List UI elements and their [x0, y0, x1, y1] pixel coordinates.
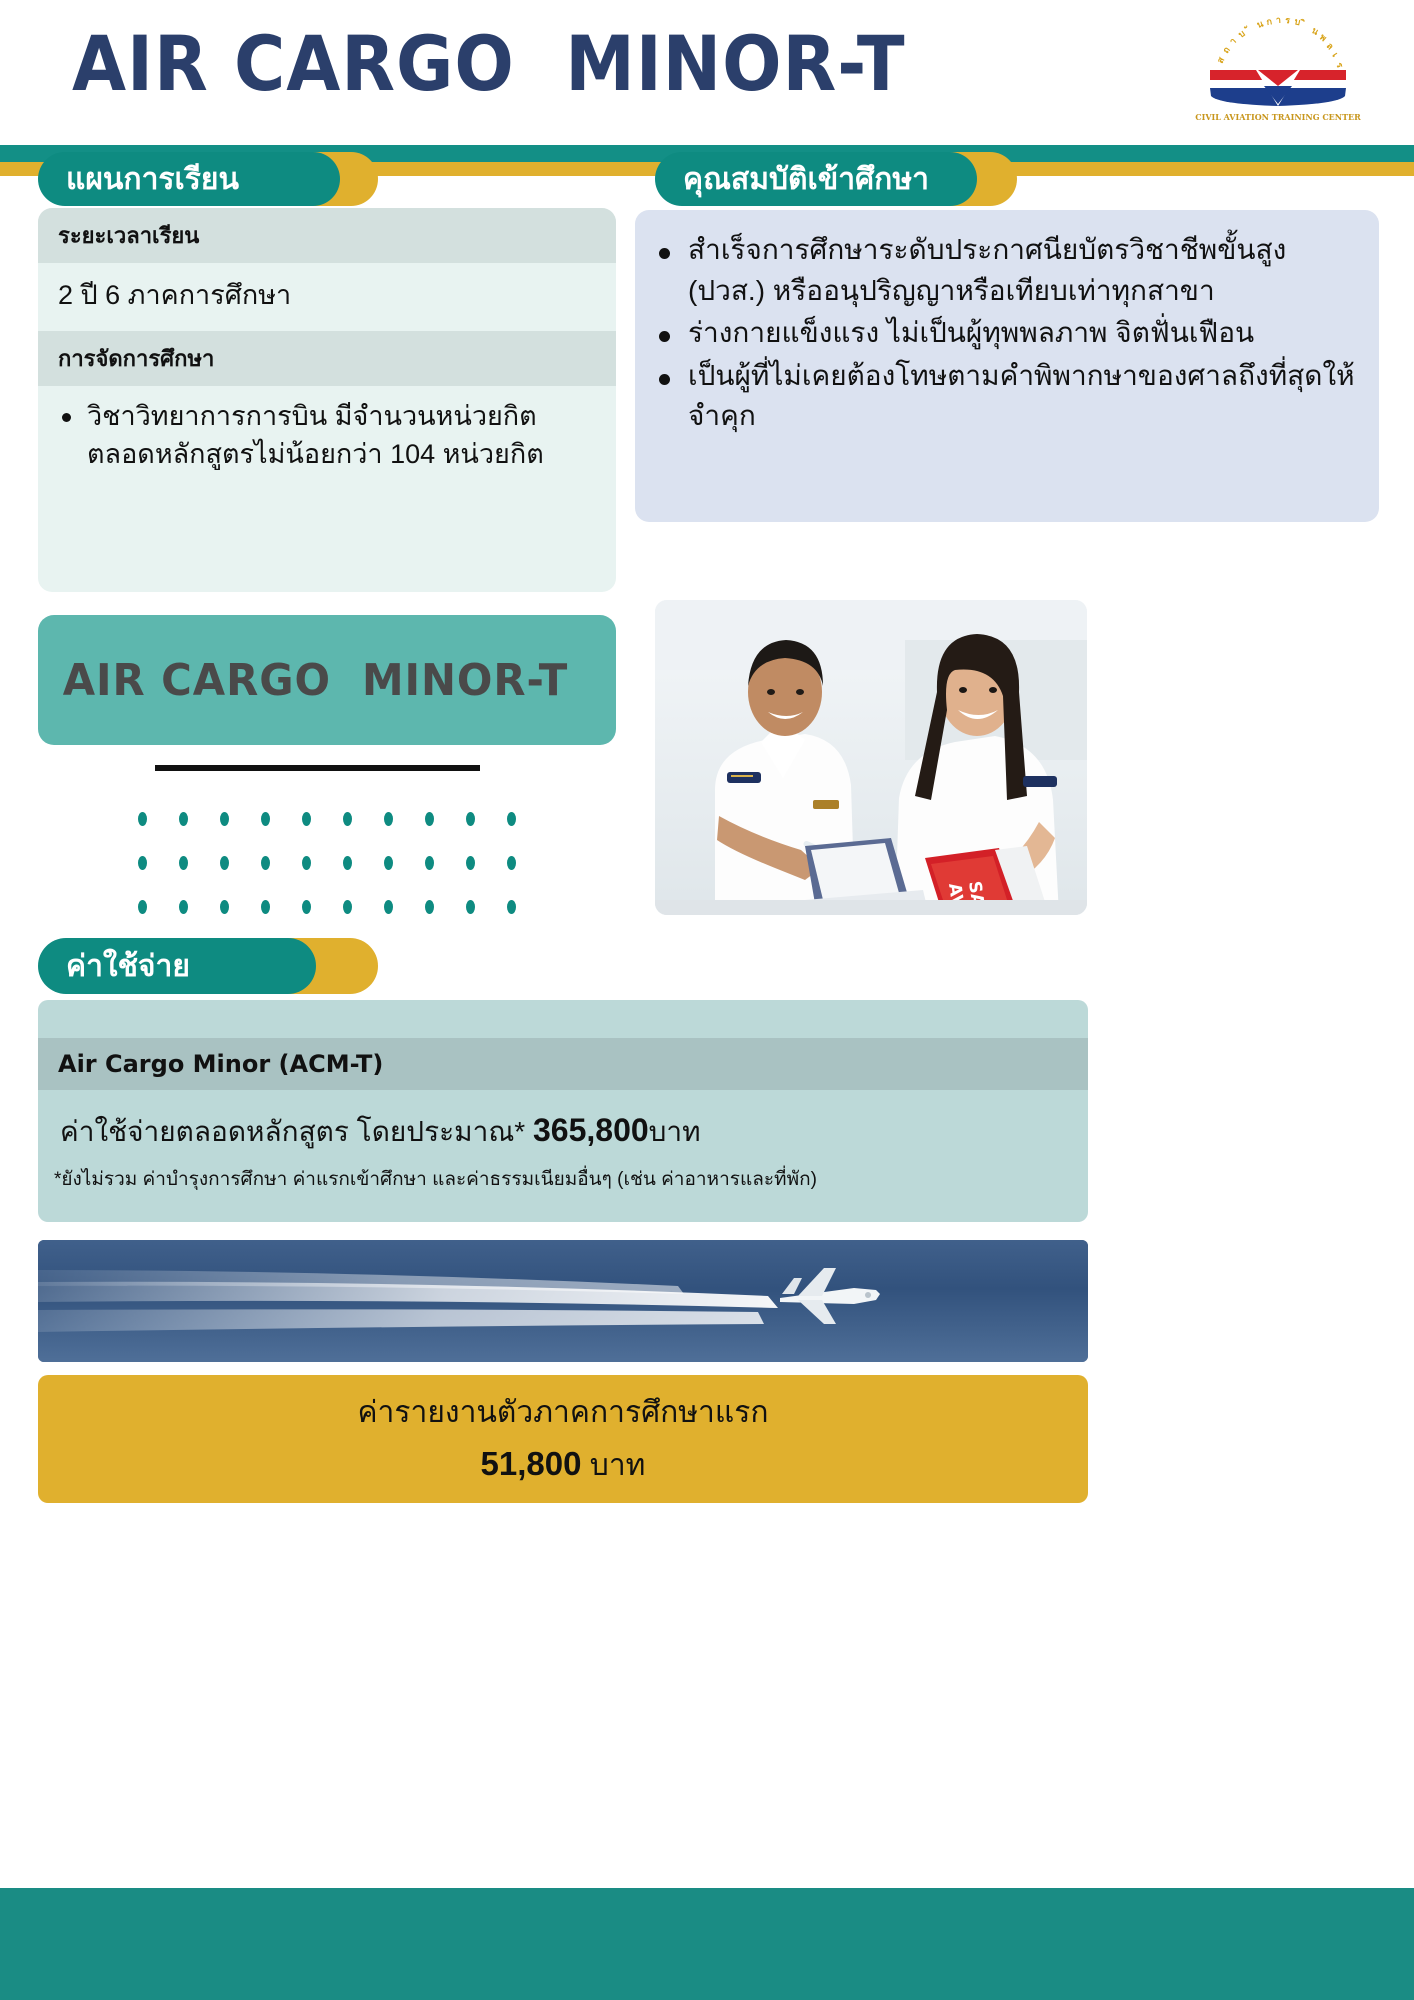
logo-caption: CIVIL AVIATION TRAINING CENTER	[1195, 112, 1361, 122]
grid-dot	[220, 900, 229, 914]
cost-program-title: Air Cargo Minor (ACM-T)	[38, 1038, 1088, 1090]
qualification-text: เป็นผู้ที่ไม่เคยต้องโทษตามคำพิพากษาของศา…	[688, 356, 1355, 437]
svg-text:บ: บ	[1293, 17, 1301, 28]
grid-dot	[507, 900, 516, 914]
grid-dot	[384, 812, 393, 826]
study-plan-pill: แผนการเรียน	[38, 152, 378, 206]
cost-main-line: ค่าใช้จ่ายตลอดหลักสูตร โดยประมาณ* 365,80…	[38, 1090, 1088, 1158]
grid-dot	[220, 856, 229, 870]
bullet-icon	[62, 413, 71, 422]
airplane-contrail-banner	[38, 1240, 1088, 1362]
cost-main-prefix: ค่าใช้จ่ายตลอดหลักสูตร โดยประมาณ*	[60, 1116, 525, 1147]
grid-dot	[507, 856, 516, 870]
grid-dot	[179, 856, 188, 870]
first-term-fee-banner: ค่ารายงานตัวภาคการศึกษาแรก 51,800 บาท	[38, 1375, 1088, 1503]
pill-body: ค่าใช้จ่าย	[38, 938, 316, 994]
qualifications-pill-label: คุณสมบัติเข้าศึกษา	[655, 156, 929, 203]
grid-dot	[261, 900, 270, 914]
decorative-dot-grid	[138, 812, 548, 944]
program-name-box: AIR CARGO MINOR-T	[38, 615, 616, 745]
qualification-text: ร่างกายแข็งแรง ไม่เป็นผู้ทุพพลภาพ จิตฟั่…	[688, 313, 1254, 354]
svg-text:ร: ร	[1285, 16, 1291, 26]
page-header: AIR CARGO MINOR-T ส ถ า บ ั น ก า ร บ	[0, 0, 1414, 145]
cost-pill: ค่าใช้จ่าย	[38, 938, 378, 994]
grid-dot	[425, 900, 434, 914]
bullet-icon	[659, 374, 670, 385]
list-item: วิชาวิทยาการการบิน มีจำนวนหน่วยกิตตลอดหล…	[62, 398, 596, 473]
grid-dot	[220, 812, 229, 826]
education-management-body: วิชาวิทยาการการบิน มีจำนวนหน่วยกิตตลอดหล…	[38, 386, 616, 483]
students-studying-photo: AVIATION SAFETY	[655, 600, 1087, 915]
bullet-icon	[659, 248, 670, 259]
svg-text:น: น	[1256, 19, 1266, 31]
svg-text:ล: ล	[1324, 41, 1335, 52]
grid-dot	[384, 856, 393, 870]
qualifications-pill: คุณสมบัติเข้าศึกษา	[655, 152, 1010, 206]
list-item: สำเร็จการศึกษาระดับประกาศนียบัตรวิชาชีพข…	[659, 230, 1355, 311]
svg-text:น: น	[1309, 26, 1320, 38]
first-term-amount: 51,800	[481, 1445, 582, 1482]
grid-dot	[261, 856, 270, 870]
list-item: ร่างกายแข็งแรง ไม่เป็นผู้ทุพพลภาพ จิตฟั่…	[659, 313, 1355, 354]
grid-dot	[507, 812, 516, 826]
svg-text:บ: บ	[1237, 29, 1248, 41]
page-title: AIR CARGO MINOR-T	[72, 14, 905, 114]
civil-aviation-training-center-logo: ส ถ า บ ั น ก า ร บ ิ น พ ล เ ร	[1178, 12, 1378, 124]
first-term-unit: บาท	[590, 1449, 646, 1482]
grid-dot	[466, 856, 475, 870]
svg-text:ร: ร	[1333, 61, 1344, 70]
cost-amount: 365,800	[533, 1112, 649, 1148]
credits-text: วิชาวิทยาการการบิน มีจำนวนหน่วยกิตตลอดหล…	[87, 398, 596, 473]
study-plan-pill-label: แผนการเรียน	[38, 156, 239, 203]
first-term-label: ค่ารายงานตัวภาคการศึกษาแรก	[357, 1389, 768, 1436]
infographic-page: AIR CARGO MINOR-T ส ถ า บ ั น ก า ร บ	[0, 0, 1414, 2000]
grid-dot	[261, 812, 270, 826]
list-item: เป็นผู้ที่ไม่เคยต้องโทษตามคำพิพากษาของศา…	[659, 356, 1355, 437]
cost-unit: บาท	[649, 1116, 701, 1147]
grid-dot	[343, 900, 352, 914]
grid-dot	[466, 812, 475, 826]
svg-text:ั: ั	[1243, 24, 1249, 29]
svg-text:พ: พ	[1317, 33, 1328, 45]
grid-dot	[179, 900, 188, 914]
svg-text:า: า	[1228, 36, 1239, 47]
qualification-text: สำเร็จการศึกษาระดับประกาศนียบัตรวิชาชีพข…	[688, 230, 1355, 311]
grid-dot	[138, 812, 147, 826]
program-name-label: AIR CARGO MINOR-T	[38, 655, 568, 706]
pill-body: แผนการเรียน	[38, 152, 340, 206]
svg-text:ก: ก	[1266, 17, 1273, 28]
duration-value: 2 ปี 6 ภาคการศึกษา	[38, 263, 616, 331]
education-management-label: การจัดการศึกษา	[38, 331, 616, 386]
grid-dot	[343, 812, 352, 826]
grid-dot	[425, 856, 434, 870]
qualifications-card: สำเร็จการศึกษาระดับประกาศนียบัตรวิชาชีพข…	[635, 210, 1379, 522]
grid-dot	[302, 856, 311, 870]
grid-dot	[138, 900, 147, 914]
duration-label: ระยะเวลาเรียน	[38, 208, 616, 263]
grid-dot	[466, 900, 475, 914]
bullet-icon	[659, 331, 670, 342]
horizontal-rule	[155, 765, 480, 771]
grid-dot	[302, 812, 311, 826]
svg-text:เ: เ	[1329, 51, 1339, 59]
svg-text:ถ: ถ	[1221, 45, 1232, 55]
first-term-amount-line: 51,800 บาท	[481, 1442, 646, 1489]
grid-dot	[343, 856, 352, 870]
study-plan-card: ระยะเวลาเรียน 2 ปี 6 ภาคการศึกษา การจัดก…	[38, 208, 616, 592]
page-footer	[0, 1888, 1414, 2000]
pill-body: คุณสมบัติเข้าศึกษา	[655, 152, 977, 206]
grid-dot	[179, 812, 188, 826]
grid-dot	[302, 900, 311, 914]
cost-card: Air Cargo Minor (ACM-T) ค่าใช้จ่ายตลอดหล…	[38, 1000, 1088, 1222]
cost-pill-label: ค่าใช้จ่าย	[38, 943, 190, 990]
grid-dot	[425, 812, 434, 826]
svg-text:ส: ส	[1216, 55, 1228, 65]
grid-dot	[384, 900, 393, 914]
cost-footnote: *ยังไม่รวม ค่าบำรุงการศึกษา ค่าแรกเข้าศึ…	[38, 1158, 1088, 1194]
grid-dot	[138, 856, 147, 870]
svg-text:า: า	[1276, 16, 1282, 26]
